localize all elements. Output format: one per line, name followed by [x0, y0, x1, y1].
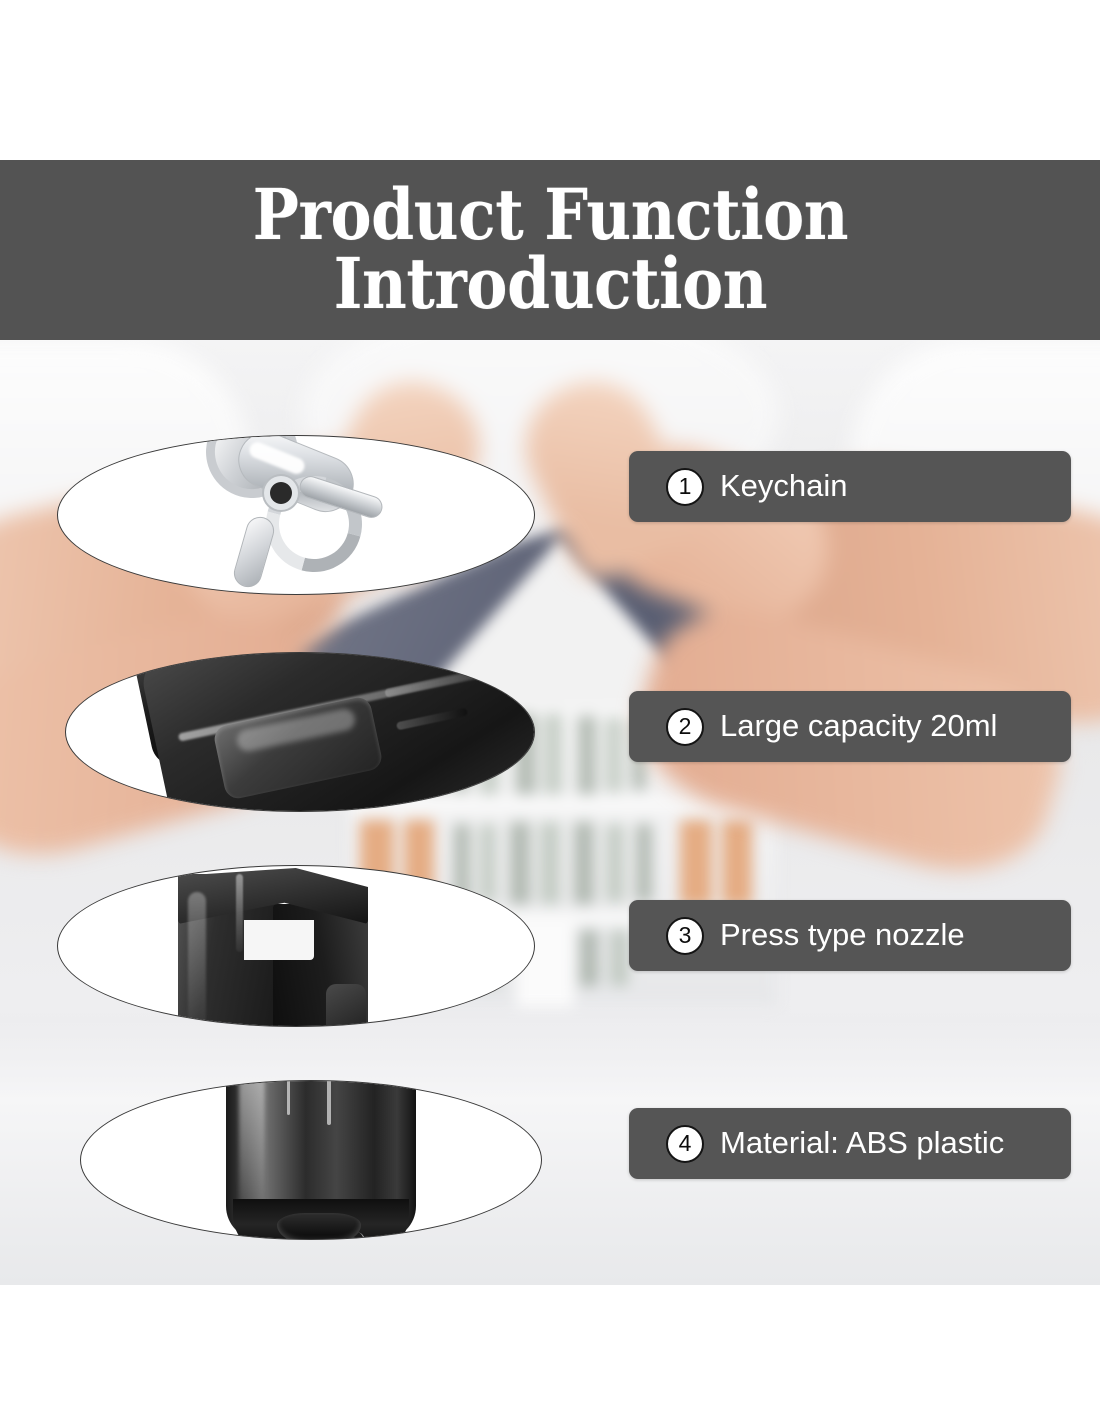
nozzle-highlight: [188, 892, 206, 1027]
page-title: Product Function Introduction: [252, 181, 848, 318]
nozzle-stub: [326, 984, 366, 1027]
abs-slit: [327, 1080, 331, 1125]
feature-label: Large capacity 20ml: [720, 710, 997, 743]
callout-material: [80, 1080, 542, 1240]
feature-number-badge: 1: [666, 468, 704, 506]
keychain-rivet: [270, 482, 292, 504]
feature-row-1[interactable]: 1 Keychain: [629, 451, 1071, 522]
keychain-icon: [188, 435, 408, 595]
feature-row-3[interactable]: 3 Press type nozzle: [629, 900, 1071, 971]
abs-base-icon: [81, 1081, 541, 1239]
callout-keychain: [57, 435, 535, 595]
bottle-body-icon: [66, 653, 534, 811]
feature-number-badge: 4: [666, 1125, 704, 1163]
keychain-lever: [231, 514, 278, 591]
header-banner: Product Function Introduction: [0, 160, 1100, 340]
feature-label: Keychain: [720, 470, 848, 503]
feature-number-badge: 2: [666, 708, 704, 746]
feature-row-4[interactable]: 4 Material: ABS plastic: [629, 1108, 1071, 1179]
abs-slit: [287, 1080, 290, 1115]
nozzle-icon: [58, 866, 534, 1026]
feature-label: Press type nozzle: [720, 919, 965, 952]
callout-nozzle: [57, 865, 535, 1027]
background-photo: 1 Keychain 2 Large capacity 20ml 3 Press…: [0, 340, 1100, 1285]
nozzle-edge-highlight: [236, 874, 243, 952]
feature-row-2[interactable]: 2 Large capacity 20ml: [629, 691, 1071, 762]
feature-label: Material: ABS plastic: [720, 1127, 1004, 1160]
callout-capacity: [65, 652, 535, 812]
product-infographic: Product Function Introduction: [0, 0, 1100, 1422]
nozzle-notch: [244, 920, 314, 960]
feature-number-badge: 3: [666, 917, 704, 955]
